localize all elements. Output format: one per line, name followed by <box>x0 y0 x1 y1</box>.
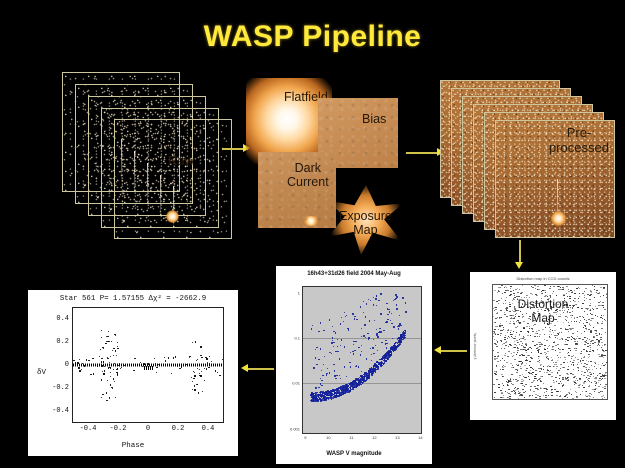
scatter-point <box>332 389 333 390</box>
distortion-vector <box>593 373 594 374</box>
distortion-vector <box>553 362 554 363</box>
distortion-vector <box>603 357 604 358</box>
distortion-vector <box>576 397 578 398</box>
distortion-vector <box>507 332 508 333</box>
distortion-vector <box>555 345 557 346</box>
lightcurve-point <box>120 368 121 369</box>
lightcurve-point <box>209 356 210 357</box>
scatter-point <box>360 354 361 355</box>
distortion-vector <box>552 376 553 377</box>
scatter-point <box>320 348 321 349</box>
scatter-point <box>315 387 316 388</box>
distortion-vector <box>534 336 536 337</box>
distortion-vector <box>527 335 529 336</box>
distortion-vector <box>515 379 517 380</box>
distortion-map-title: Distortion map in CCD coords <box>470 276 616 281</box>
distortion-vector <box>542 290 544 291</box>
distortion-vector <box>551 395 553 396</box>
scatter-point <box>318 387 319 388</box>
scatter-point <box>405 302 406 303</box>
scatter-point <box>365 380 366 381</box>
scatter-point <box>334 375 335 376</box>
distortion-vector <box>495 333 496 334</box>
distortion-vector <box>564 357 566 358</box>
scatter-point <box>375 298 376 299</box>
distortion-vector <box>581 358 582 359</box>
distortion-vector <box>569 328 571 329</box>
distortion-vector <box>530 389 531 390</box>
distortion-vector <box>567 397 568 398</box>
distortion-vector <box>508 380 509 381</box>
lightcurve-point <box>143 363 144 364</box>
distortion-vector <box>586 396 588 397</box>
distortion-vector <box>504 360 505 361</box>
distortion-vector <box>504 337 506 338</box>
lightcurve-point <box>197 359 198 360</box>
distortion-vector <box>584 344 586 345</box>
scatter-point <box>315 349 316 350</box>
lightcurve-point <box>101 365 102 366</box>
lightcurve-point <box>92 358 93 359</box>
distortion-vector <box>515 336 516 337</box>
lightcurve-point <box>78 367 79 368</box>
distortion-vector <box>574 293 576 294</box>
lightcurve-point <box>201 357 202 358</box>
distortion-vector <box>601 365 602 366</box>
distortion-vector <box>536 331 537 332</box>
lightcurve-point <box>79 370 80 371</box>
distortion-vector <box>599 373 601 374</box>
distortion-vector <box>498 287 500 288</box>
distortion-vector <box>578 370 579 371</box>
distortion-vector <box>520 331 522 332</box>
distortion-vector <box>587 346 589 347</box>
lightcurve-point <box>106 400 107 401</box>
distortion-vector <box>590 332 592 333</box>
distortion-vector <box>522 389 524 390</box>
distortion-vector <box>495 374 497 375</box>
scatter-point <box>361 345 362 346</box>
lightcurve-point <box>168 357 169 358</box>
distortion-vector <box>540 365 541 366</box>
scatter-point <box>386 347 387 348</box>
lightcurve-panel: Star 561 P= 1.57155 Δχ² = -2662.9 δV 0.4… <box>28 290 238 456</box>
distortion-vector <box>524 365 526 366</box>
scatter-point <box>321 385 322 386</box>
distortion-vector <box>560 368 561 369</box>
scatter-point <box>389 357 390 358</box>
exposure-map-tile <box>325 185 407 255</box>
scatter-point <box>402 297 403 298</box>
scatter-point <box>376 361 377 362</box>
distortion-vector <box>494 356 496 357</box>
distortion-vector <box>577 364 578 365</box>
distortion-vector <box>525 370 527 371</box>
scatter-point <box>321 394 322 395</box>
distortion-vector <box>548 395 549 396</box>
lightcurve-point <box>179 368 180 369</box>
lightcurve-point <box>113 355 114 356</box>
distortion-vector <box>562 349 564 350</box>
distortion-vector <box>534 285 536 286</box>
scatter-point <box>329 392 330 393</box>
distortion-vector <box>529 396 530 397</box>
distortion-vector <box>532 374 533 375</box>
distortion-vector <box>532 294 533 295</box>
distortion-vector <box>547 358 549 359</box>
scatter-point <box>386 303 387 304</box>
scatter-point <box>363 301 364 302</box>
scatter-point <box>315 357 316 358</box>
scatter-point <box>405 330 406 331</box>
distortion-vector <box>552 347 553 348</box>
distortion-vector <box>535 374 536 375</box>
distortion-vector <box>529 395 531 396</box>
distortion-vector <box>504 348 505 349</box>
distortion-vector <box>511 353 512 354</box>
lightcurve-point <box>181 366 182 367</box>
distortion-vector <box>544 372 545 373</box>
distortion-vector <box>544 285 546 286</box>
scatter-point <box>380 365 381 366</box>
distortion-vector <box>599 292 600 293</box>
distortion-vector <box>602 387 604 388</box>
distortion-vector <box>598 342 600 343</box>
distortion-vector <box>605 332 606 333</box>
page-title: WASP Pipeline <box>0 20 625 54</box>
scatter-point <box>375 345 376 346</box>
distortion-vector <box>531 373 532 374</box>
scatter-point <box>371 354 372 355</box>
distortion-vector <box>552 293 553 294</box>
scatter-point <box>344 346 345 347</box>
distortion-vector <box>502 344 503 345</box>
distortion-vector <box>531 382 533 383</box>
scatter-point <box>386 321 387 322</box>
scatter-point <box>380 293 381 294</box>
distortion-vector <box>586 377 587 378</box>
distortion-vector <box>494 290 496 291</box>
distortion-vector <box>592 343 594 344</box>
distortion-vector <box>581 351 582 352</box>
scatter-point <box>353 344 354 345</box>
distortion-vector <box>599 356 601 357</box>
lightcurve-point <box>165 360 166 361</box>
distortion-vector <box>557 338 558 339</box>
distortion-vector <box>537 389 539 390</box>
lightcurve-plot-area: 0.40.20-0.2-0.4-0.4-0.200.20.4 <box>72 307 224 423</box>
distortion-vector <box>568 352 569 353</box>
scatter-point <box>401 337 402 338</box>
lightcurve-point <box>116 355 117 356</box>
scatter-point <box>381 342 382 343</box>
lightcurve-point <box>204 368 205 369</box>
lightcurve-point <box>156 367 157 368</box>
distortion-vector <box>517 326 518 327</box>
scatter-point <box>339 375 340 376</box>
distortion-vector <box>497 326 498 327</box>
scatter-point <box>321 370 322 371</box>
distortion-vector <box>577 367 579 368</box>
distortion-vector <box>584 331 585 332</box>
lightcurve-point <box>196 360 197 361</box>
distortion-vector <box>603 365 605 366</box>
distortion-vector <box>555 364 557 365</box>
distortion-vector <box>560 357 561 358</box>
distortion-vector <box>553 382 555 383</box>
distortion-vector <box>497 361 499 362</box>
distortion-vector <box>571 336 572 337</box>
scatter-point <box>323 364 324 365</box>
lightcurve-ytick: 0.2 <box>56 338 69 346</box>
distortion-vector <box>549 374 551 375</box>
distortion-vector <box>604 388 606 389</box>
distortion-vector <box>576 378 577 379</box>
lightcurve-point <box>109 362 110 363</box>
lightcurve-point <box>73 360 74 361</box>
scatter-point <box>367 333 368 334</box>
scatter-point <box>352 351 353 352</box>
distortion-vector <box>504 287 505 288</box>
lightcurve-ytick: -0.2 <box>52 384 69 392</box>
distortion-vector <box>569 296 571 297</box>
distortion-vector <box>561 332 562 333</box>
distortion-vector <box>516 354 517 355</box>
distortion-vector <box>526 357 527 358</box>
distortion-vector <box>494 392 496 393</box>
distortion-vector <box>542 293 543 294</box>
distortion-vector <box>543 366 544 367</box>
distortion-vector <box>502 330 503 331</box>
lightcurve-transit-dip <box>144 366 153 370</box>
lightcurve-point <box>200 375 201 376</box>
scatter-point <box>354 380 355 381</box>
distortion-vector <box>595 377 597 378</box>
distortion-vector <box>581 363 582 364</box>
distortion-vector <box>541 369 542 370</box>
scatter-point <box>393 326 394 327</box>
distortion-vector <box>585 326 586 327</box>
distortion-vector <box>522 374 523 375</box>
scatter-point <box>361 371 362 372</box>
scatter-point <box>361 328 362 329</box>
distortion-vector <box>599 392 600 393</box>
distortion-vector <box>603 351 605 352</box>
lightcurve-point <box>134 358 135 359</box>
distortion-vector <box>582 293 584 294</box>
distortion-vector <box>522 349 523 350</box>
distortion-vector <box>595 385 596 386</box>
scatter-point <box>324 356 325 357</box>
distortion-vector <box>587 343 589 344</box>
arrow-distortion-to-photometry-head <box>434 346 441 354</box>
distortion-vector <box>602 398 603 399</box>
scatter-point <box>348 329 349 330</box>
scatter-point <box>320 391 321 392</box>
scatter-point <box>349 362 350 363</box>
scatter-point <box>390 349 391 350</box>
distortion-vector <box>578 362 579 363</box>
distortion-vector <box>493 336 494 337</box>
distortion-vector <box>502 293 503 294</box>
distortion-vector <box>587 338 588 339</box>
distortion-vector <box>588 361 589 362</box>
scatter-point <box>366 358 367 359</box>
distortion-vector <box>511 367 513 368</box>
lightcurve-point <box>200 346 201 347</box>
scatter-point <box>342 389 343 390</box>
distortion-vector <box>500 397 502 398</box>
lightcurve-xtick: -0.2 <box>110 425 127 433</box>
distortion-vector <box>600 296 601 297</box>
distortion-vector <box>494 332 495 333</box>
scatter-point <box>376 305 377 306</box>
scatter-point <box>366 303 367 304</box>
scatter-point <box>346 387 347 388</box>
preprocessed-image-stack: Pre- processed <box>440 80 618 242</box>
distortion-vector <box>593 327 594 328</box>
scatter-point <box>368 377 369 378</box>
distortion-vector <box>571 292 573 293</box>
distortion-vector <box>601 396 603 397</box>
scatter-point <box>333 331 334 332</box>
lightcurve-ytick: 0 <box>65 361 69 369</box>
distortion-vector <box>586 369 587 370</box>
lightcurve-point <box>171 373 172 374</box>
lightcurve-point <box>114 381 115 382</box>
distortion-vector <box>566 394 568 395</box>
distortion-vector <box>513 352 515 353</box>
distortion-vector <box>585 342 587 343</box>
distortion-vector <box>589 356 590 357</box>
distortion-vector <box>530 370 531 371</box>
distortion-vector <box>567 369 569 370</box>
distortion-vector <box>506 381 507 382</box>
distortion-vector <box>507 330 509 331</box>
distortion-vector <box>582 391 583 392</box>
distortion-vector <box>554 389 556 390</box>
distortion-vector <box>588 395 590 396</box>
distortion-vector <box>562 339 563 340</box>
scatter-point <box>349 390 350 391</box>
distortion-vector <box>517 365 519 366</box>
distortion-vector <box>507 385 509 386</box>
distortion-vector <box>580 360 581 361</box>
distortion-vector <box>528 376 529 377</box>
distortion-vector <box>519 377 520 378</box>
lightcurve-xtick: -0.4 <box>80 425 97 433</box>
scatter-point <box>326 393 327 394</box>
scatter-point <box>320 395 321 396</box>
distortion-vector <box>526 295 528 296</box>
distortion-vector <box>567 362 568 363</box>
lightcurve-point <box>211 361 212 362</box>
distortion-vector <box>572 333 574 334</box>
distortion-vector <box>555 350 556 351</box>
raw-frame-top <box>114 119 232 239</box>
distortion-vector <box>549 366 551 367</box>
distortion-vector <box>605 364 606 365</box>
scatter-point <box>390 320 391 321</box>
distortion-vector <box>602 345 603 346</box>
scatter-point <box>373 297 374 298</box>
lightcurve-point <box>103 373 104 374</box>
scatter-point <box>354 318 355 319</box>
distortion-vector <box>517 370 518 371</box>
distortion-vector <box>515 289 517 290</box>
distortion-vector <box>570 290 572 291</box>
lightcurve-point <box>117 348 118 349</box>
distortion-vector <box>498 387 500 388</box>
distortion-vector <box>586 350 587 351</box>
distortion-vector <box>535 370 537 371</box>
distortion-vector <box>560 364 562 365</box>
scatter-point <box>390 354 391 355</box>
distortion-vector <box>528 332 529 333</box>
distortion-vector <box>570 389 571 390</box>
scatter-point <box>376 329 377 330</box>
lightcurve-point <box>189 356 190 357</box>
arrow-preprocessed-to-distortion-line <box>519 240 521 264</box>
distortion-vector <box>583 375 585 376</box>
scatter-point <box>350 352 351 353</box>
distortion-vector <box>535 333 537 334</box>
lightcurve-point <box>86 359 87 360</box>
distortion-vector <box>500 340 502 341</box>
distortion-vector <box>598 380 599 381</box>
distortion-vector <box>526 352 527 353</box>
distortion-vector <box>539 336 540 337</box>
distortion-vector <box>604 378 606 379</box>
distortion-vector <box>550 295 551 296</box>
distortion-vector <box>502 369 504 370</box>
distortion-vector <box>524 397 525 398</box>
scatter-point <box>355 366 356 367</box>
distortion-vector <box>542 329 544 330</box>
distortion-vector <box>594 342 596 343</box>
distortion-vector <box>538 385 539 386</box>
scatter-point <box>401 334 402 335</box>
distortion-vector <box>600 368 601 369</box>
distortion-vector <box>590 349 591 350</box>
distortion-vector <box>596 290 598 291</box>
distortion-vector <box>538 379 540 380</box>
distortion-vector <box>535 397 537 398</box>
scatter-point <box>337 351 338 352</box>
distortion-vector <box>575 343 577 344</box>
scatter-point <box>323 330 324 331</box>
distortion-vector <box>577 336 578 337</box>
distortion-vector <box>540 388 541 389</box>
distortion-vector <box>544 352 546 353</box>
lightcurve-point <box>215 370 216 371</box>
distortion-vector <box>549 371 550 372</box>
distortion-vector <box>584 356 585 357</box>
scatter-point <box>386 343 387 344</box>
distortion-vector <box>568 325 570 326</box>
scatter-point <box>327 390 328 391</box>
distortion-vector <box>519 344 520 345</box>
distortion-vector <box>523 328 525 329</box>
lightcurve-point <box>133 370 134 371</box>
distortion-vector <box>516 332 517 333</box>
distortion-vector <box>495 326 496 327</box>
distortion-vector <box>566 329 568 330</box>
scatter-point <box>329 352 330 353</box>
distortion-vector <box>594 289 595 290</box>
scatter-point <box>350 384 351 385</box>
lightcurve-point <box>110 367 111 368</box>
